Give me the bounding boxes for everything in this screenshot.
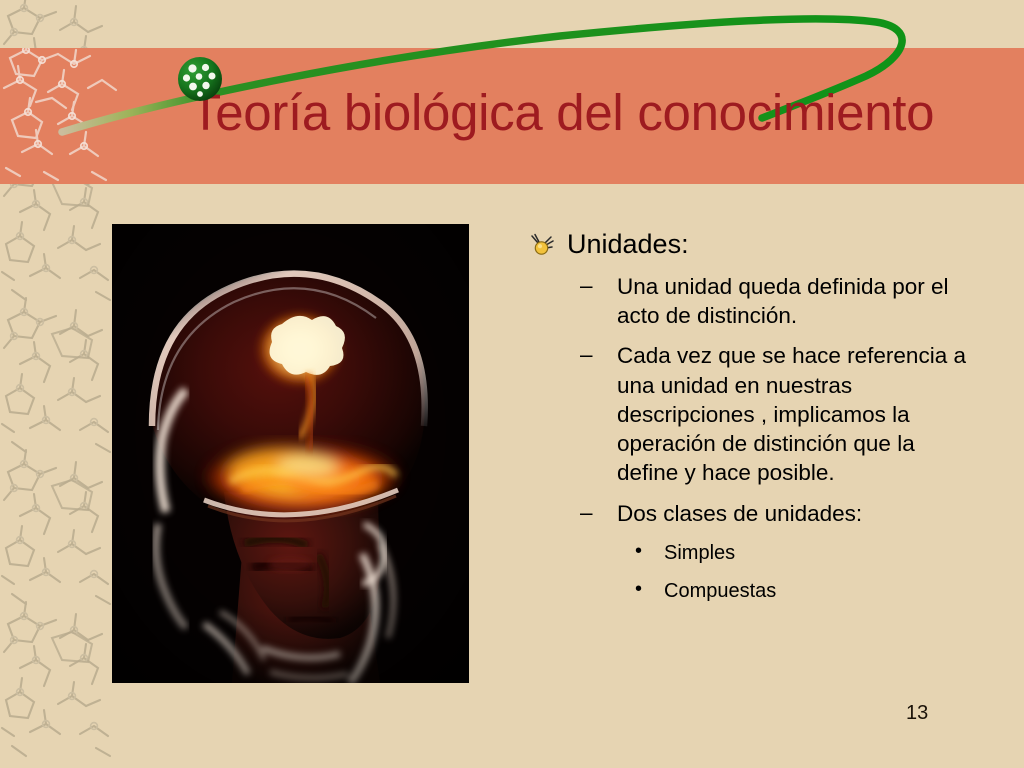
heading-text: Unidades:	[567, 229, 689, 259]
sub-sub-bullet-2: • Compuestas	[525, 578, 970, 604]
dash-marker: –	[580, 271, 593, 300]
sub-bullet-2: – Cada vez que se hace referencia a una …	[525, 341, 970, 487]
sub-bullet-3-text: Dos clases de unidades:	[617, 501, 862, 526]
dot-marker: •	[635, 576, 642, 602]
dash-marker: –	[580, 498, 593, 527]
dot-marker: •	[635, 538, 642, 564]
content-body: Unidades: – Una unidad queda definida po…	[525, 228, 970, 604]
sub-bullet-3: – Dos clases de unidades:	[525, 499, 970, 528]
header-band-decorative-pattern	[0, 48, 118, 184]
presentation-slide: Teoría biológica del conocimiento	[0, 0, 1024, 768]
bee-icon	[529, 233, 555, 259]
slide-number: 13	[906, 702, 928, 725]
dash-marker: –	[580, 340, 593, 369]
slide-image-brain-head	[112, 224, 469, 683]
top-strip	[0, 0, 1024, 48]
sub-bullet-1-text: Una unidad queda definida por el acto de…	[617, 274, 949, 328]
sub-bullet-2-text: Cada vez que se hace referencia a una un…	[617, 343, 966, 485]
sub-bullet-1: – Una unidad queda definida por el acto …	[525, 272, 970, 331]
bullet-heading: Unidades:	[525, 228, 970, 261]
green-sphere-logo-icon	[177, 56, 223, 102]
sub-sub-bullet-1-text: Simples	[664, 542, 735, 564]
sub-sub-bullet-2-text: Compuestas	[664, 580, 776, 602]
sub-sub-bullet-1: • Simples	[525, 540, 970, 566]
slide-title: Teoría biológica del conocimiento	[190, 86, 990, 140]
